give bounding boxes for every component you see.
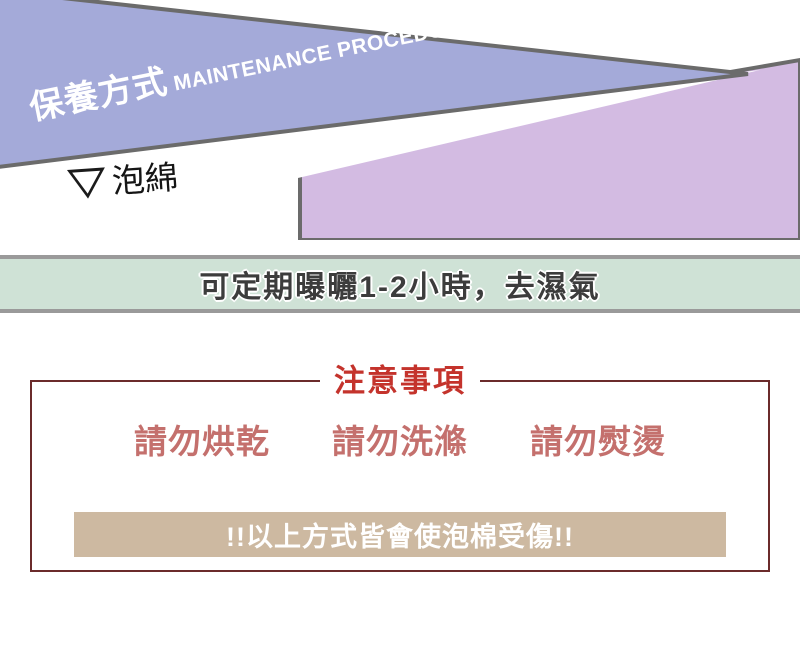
warning-list: 請勿烘乾 請勿洗滌 請勿熨燙 — [30, 425, 770, 458]
down-triangle-icon — [67, 167, 107, 200]
notice-footer-text: !!以上方式皆會使泡棉受傷!! — [226, 515, 574, 554]
banner-subtitle-label: 泡綿 — [111, 160, 179, 198]
banner-subtitle-row: 泡綿 — [67, 160, 179, 201]
header-banner: 保養方式 MAINTENANCE PROCEDURE 泡綿 — [0, 0, 800, 240]
notice-footer-bar: !!以上方式皆會使泡棉受傷!! — [74, 512, 726, 557]
instruction-band-text: 可定期曝曬1-2小時，去濕氣 — [199, 262, 600, 306]
warning-item-no-iron: 請勿熨燙 — [530, 425, 666, 458]
banner-shapes — [0, 0, 800, 240]
instruction-band: 可定期曝曬1-2小時，去濕氣 — [0, 255, 800, 313]
notice-box-legend: 注意事項 — [320, 366, 480, 397]
warning-item-no-tumble-dry: 請勿烘乾 — [134, 425, 270, 458]
warning-item-no-wash: 請勿洗滌 — [332, 425, 468, 458]
